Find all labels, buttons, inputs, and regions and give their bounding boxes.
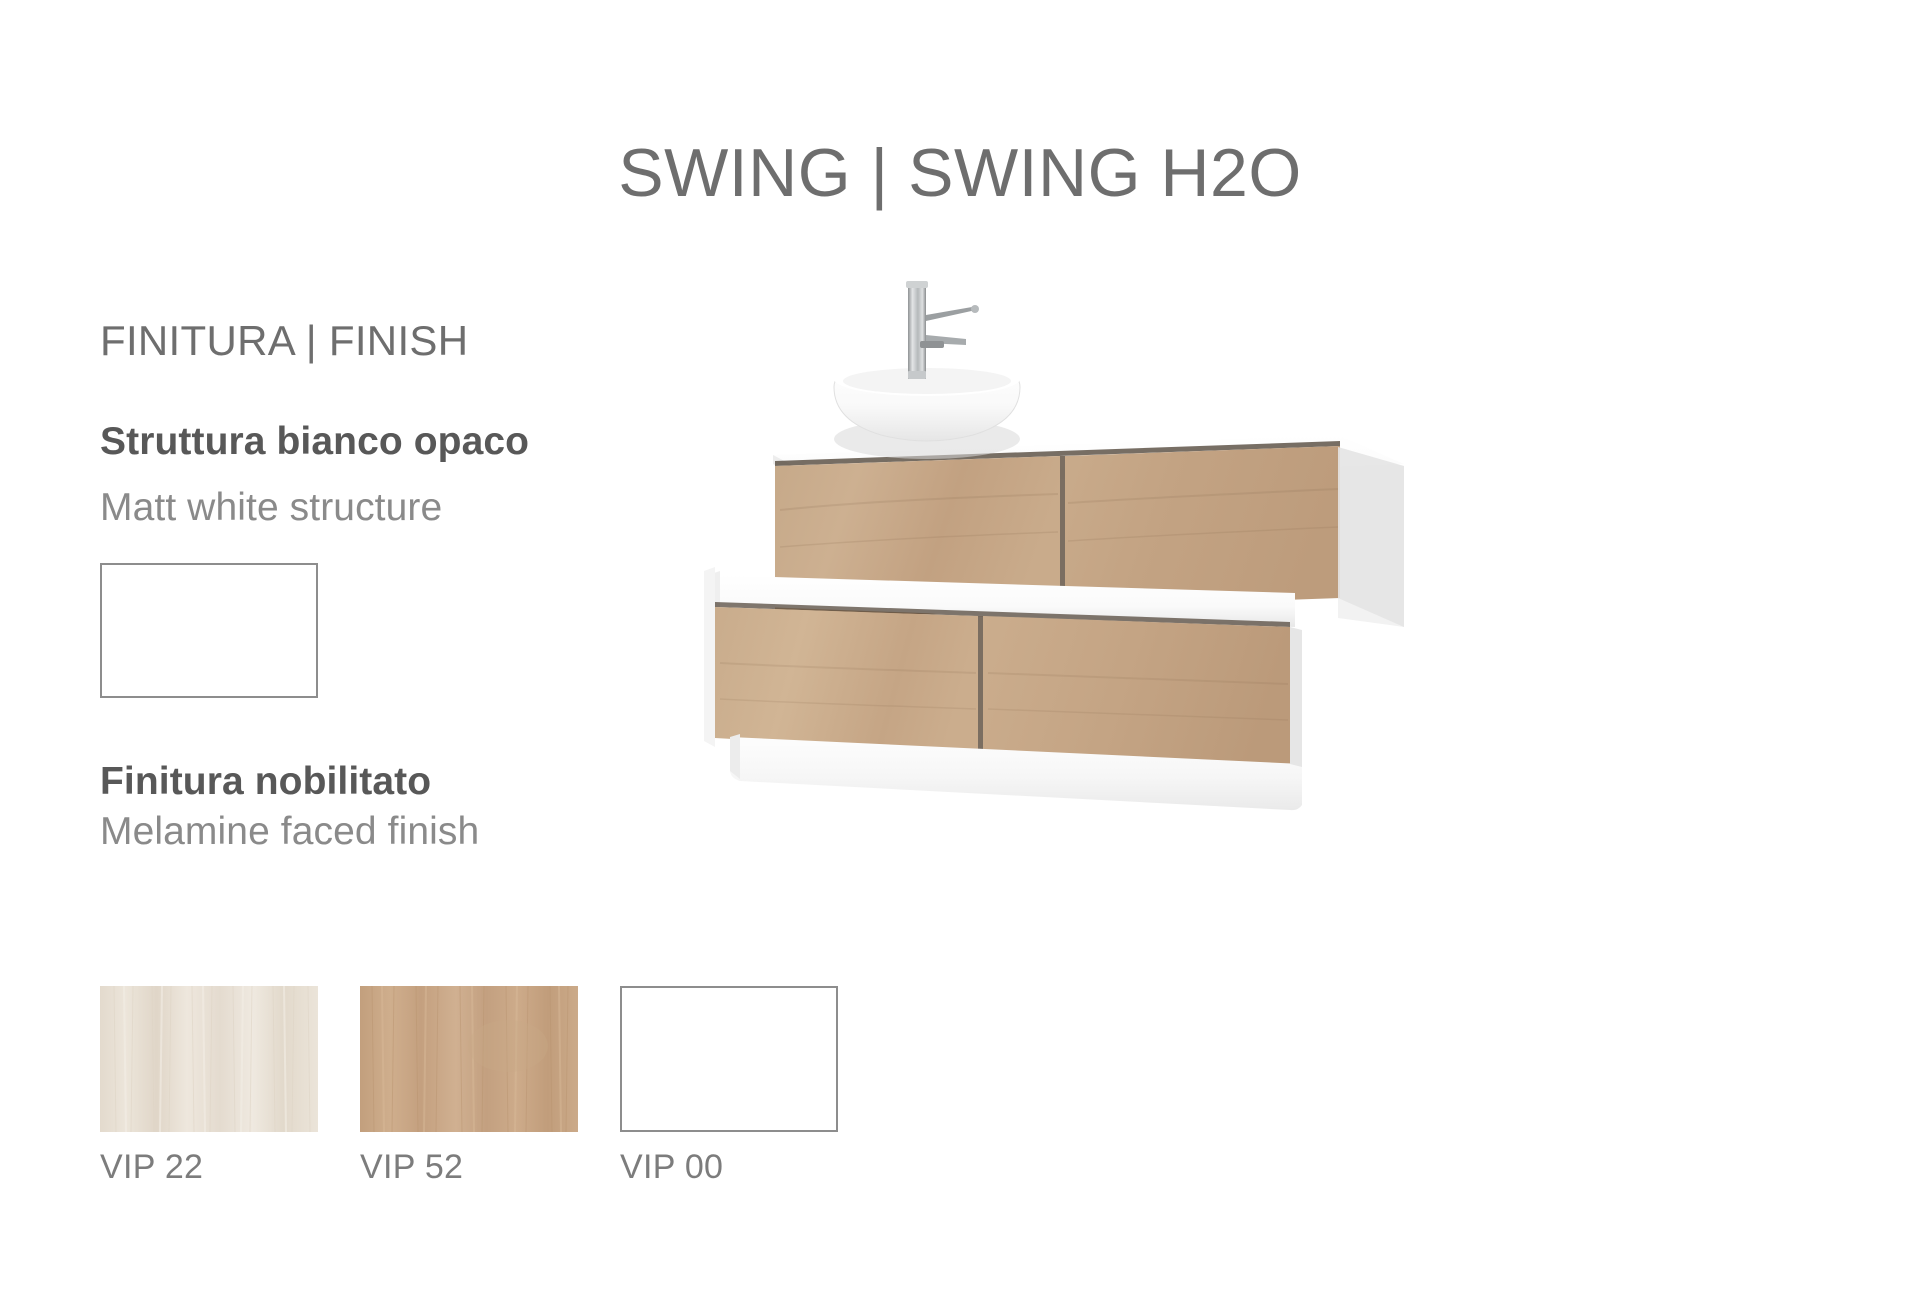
page-title: SWING | SWING H2O xyxy=(0,136,1920,211)
lower-drawer-left xyxy=(715,607,978,753)
swatch-chip-vip-22[interactable] xyxy=(100,986,318,1132)
faucet-aerator xyxy=(920,341,944,348)
melamine-swatch-row: VIP 22 xyxy=(100,986,838,1184)
faucet-cap xyxy=(906,281,928,288)
swatch-item-vip-00[interactable]: VIP 00 xyxy=(620,986,838,1184)
swing-vanity-illustration xyxy=(690,275,1450,815)
basin-inner xyxy=(843,368,1011,394)
swatch-item-vip-52[interactable]: VIP 52 xyxy=(360,986,578,1184)
page-root: SWING | SWING H2O FINITURA | FINISH Stru… xyxy=(0,0,1920,1308)
swatch-caption-vip-00: VIP 00 xyxy=(620,1150,838,1184)
faucet-base xyxy=(908,371,926,379)
swatch-caption-vip-22: VIP 22 xyxy=(100,1150,318,1184)
wood-grain-tan-icon xyxy=(360,986,578,1132)
lower-drawer-right xyxy=(983,616,1290,764)
wood-grain-light-icon xyxy=(100,986,318,1132)
upper-cabinet-side xyxy=(1338,447,1404,627)
lower-cabinet-left-panel xyxy=(704,567,715,747)
swatch-matt-white[interactable] xyxy=(100,563,318,698)
swatch-item-vip-22[interactable]: VIP 22 xyxy=(100,986,318,1184)
upper-drawer-right xyxy=(1065,446,1340,608)
swatch-caption-vip-52: VIP 52 xyxy=(360,1150,578,1184)
product-image xyxy=(690,275,1450,815)
faucet-lever xyxy=(926,307,976,321)
faucet-lever-knob xyxy=(971,305,979,313)
swatch-chip-vip-00[interactable] xyxy=(620,986,838,1132)
lower-drawer-divider xyxy=(978,616,983,753)
upper-drawer-divider xyxy=(1060,456,1065,608)
faucet-body xyxy=(908,283,926,379)
melamine-label-en: Melamine faced finish xyxy=(100,810,860,854)
lower-cabinet-right-cap xyxy=(1290,627,1302,767)
swatch-chip-vip-52[interactable] xyxy=(360,986,578,1132)
